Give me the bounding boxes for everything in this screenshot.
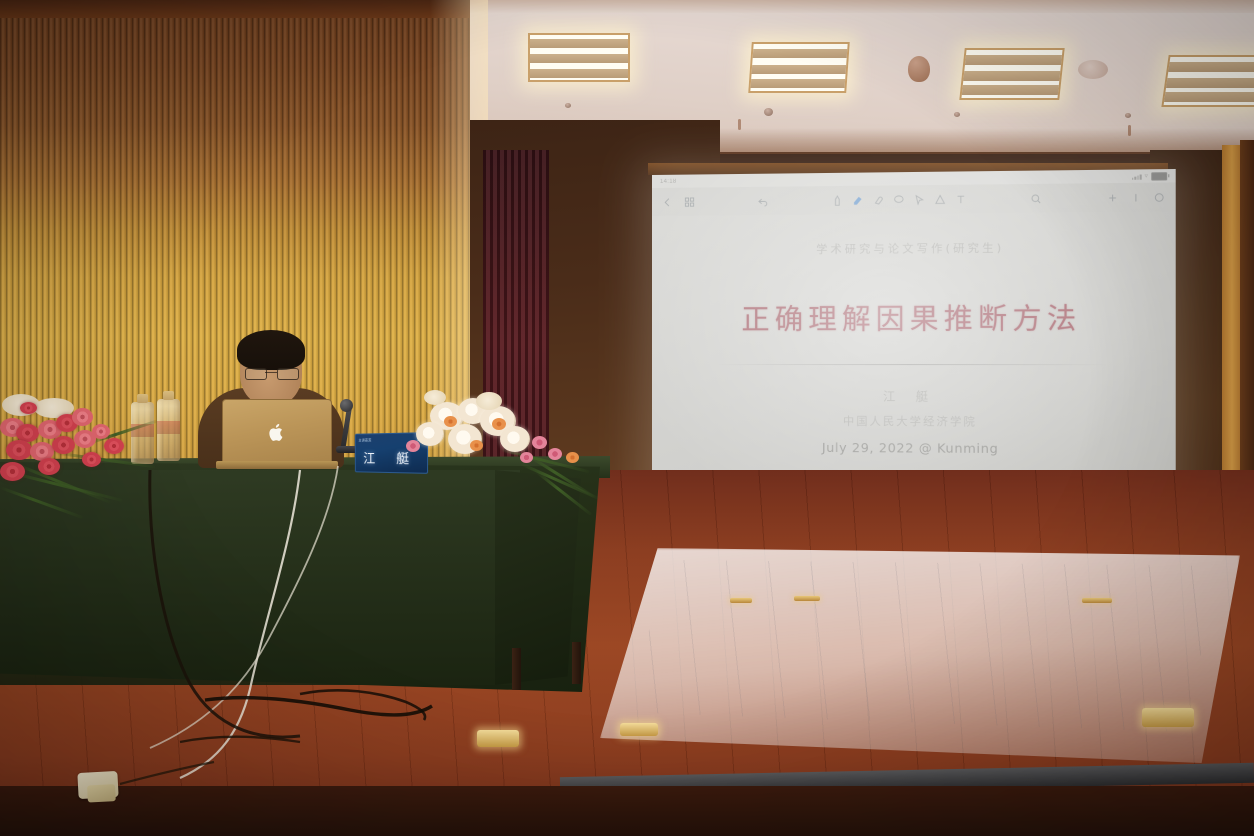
- wall-top-trim: [0, 0, 470, 18]
- share-icon[interactable]: [1153, 191, 1165, 202]
- lecture-hall-photo: 14:18 ▿: [0, 0, 1254, 836]
- slide-kicker: 学术研究与论文写作(研究生): [816, 239, 1004, 257]
- toolbar-left-group[interactable]: [662, 196, 695, 207]
- toolbar-tools-group[interactable]: [831, 193, 966, 205]
- ceiling-light-panel: [748, 42, 850, 93]
- slide-date: July 29, 2022 @ Kunming: [822, 440, 999, 456]
- microphone-icon: [340, 399, 353, 412]
- table-cloth-front: [0, 470, 520, 685]
- ceiling-light-panel: [1161, 55, 1254, 107]
- pen-icon[interactable]: [831, 195, 842, 206]
- floor-uplight: [794, 596, 820, 601]
- flower-bloom: [20, 402, 37, 414]
- floor-uplight: [730, 598, 752, 603]
- table-leg: [572, 642, 581, 684]
- glasses-bridge: [265, 372, 277, 373]
- flower-bloom: [6, 440, 32, 460]
- highlighter-icon[interactable]: [852, 194, 863, 205]
- toolbar-search-group[interactable]: [1030, 193, 1042, 204]
- status-bar-time: 14:18: [660, 178, 677, 184]
- flower-bloom: [424, 390, 446, 405]
- status-bar-left: 14:18: [660, 178, 677, 184]
- bottle-label: [157, 421, 180, 433]
- laptop-base: [216, 461, 338, 469]
- status-bar-right: ▿: [1132, 172, 1167, 181]
- placard-header-left: 主讲嘉宾: [358, 437, 371, 442]
- glasses-lens-left: [245, 368, 267, 380]
- eraser-icon[interactable]: [872, 194, 883, 205]
- floor-uplight: [477, 730, 519, 747]
- ceiling-vent: [1078, 60, 1108, 79]
- flower-bloom: [444, 416, 457, 427]
- laptop-lid: [222, 399, 332, 467]
- smoke-detector: [954, 112, 960, 117]
- flower-bloom: [38, 458, 60, 475]
- glasses-lens-right: [277, 368, 299, 380]
- pointer-icon[interactable]: [913, 194, 924, 205]
- flower-bloom-lily: [500, 426, 530, 452]
- ceiling-speaker: [908, 56, 930, 82]
- search-icon[interactable]: [1030, 193, 1042, 204]
- flower-bloom: [492, 418, 506, 430]
- shapes-icon[interactable]: [934, 194, 945, 205]
- signal-bars-icon: [1132, 173, 1142, 179]
- flower-bloom-lily: [416, 422, 444, 446]
- wifi-icon: ▿: [1145, 172, 1149, 179]
- grid-icon[interactable]: [684, 196, 695, 207]
- speaker-glasses: [245, 368, 297, 378]
- flower-bloom: [92, 424, 110, 439]
- flower-bloom: [532, 436, 547, 449]
- floor-uplight: [620, 723, 658, 736]
- flower-bloom: [520, 452, 533, 463]
- smoke-detector: [1125, 113, 1131, 118]
- flower-bloom: [476, 392, 502, 410]
- flower-bloom: [104, 438, 124, 454]
- water-bottle: [131, 402, 154, 464]
- macbook-power-adapter: [77, 771, 118, 799]
- ceiling-light-panel: [959, 48, 1064, 100]
- table-leg: [512, 648, 521, 690]
- toolbar-undo-group[interactable]: [757, 195, 768, 206]
- sprinkler-head: [565, 103, 571, 108]
- slide-divider: [716, 364, 1108, 365]
- slide-affiliation: 中国人民大学经济学院: [843, 413, 977, 430]
- flower-bloom: [0, 462, 25, 481]
- slide-author: 江 艇: [883, 387, 936, 404]
- flower-bloom: [566, 452, 579, 463]
- flower-bloom: [470, 440, 483, 451]
- toolbar-right-group[interactable]: [1107, 191, 1165, 203]
- slide-title: 正确理解因果推断方法: [741, 296, 1081, 338]
- ceiling-edge-trim: [462, 0, 1254, 13]
- flower-bloom: [82, 452, 101, 467]
- water-bottle: [157, 399, 180, 461]
- flower-bloom: [72, 408, 93, 426]
- chevron-left-icon[interactable]: [662, 196, 673, 207]
- plus-icon[interactable]: [1107, 192, 1119, 203]
- flower-bloom: [548, 448, 562, 460]
- flower-bloom: [406, 440, 420, 452]
- sprinkler-head: [764, 108, 773, 116]
- floor-uplight: [1082, 598, 1112, 603]
- battery-icon: [1151, 172, 1167, 180]
- stage-front-shadow: [0, 786, 1254, 836]
- apple-logo-icon: [269, 423, 286, 442]
- floor-uplight: [1142, 708, 1194, 727]
- ceiling-light-panel: [528, 33, 630, 82]
- undo-icon[interactable]: [757, 195, 768, 206]
- speaker-hair: [237, 330, 305, 370]
- slide-toolbar[interactable]: [652, 182, 1176, 216]
- text-icon[interactable]: [955, 193, 966, 204]
- more-icon[interactable]: [1130, 192, 1142, 203]
- lasso-icon[interactable]: [893, 194, 904, 205]
- flower-bloom: [52, 436, 75, 454]
